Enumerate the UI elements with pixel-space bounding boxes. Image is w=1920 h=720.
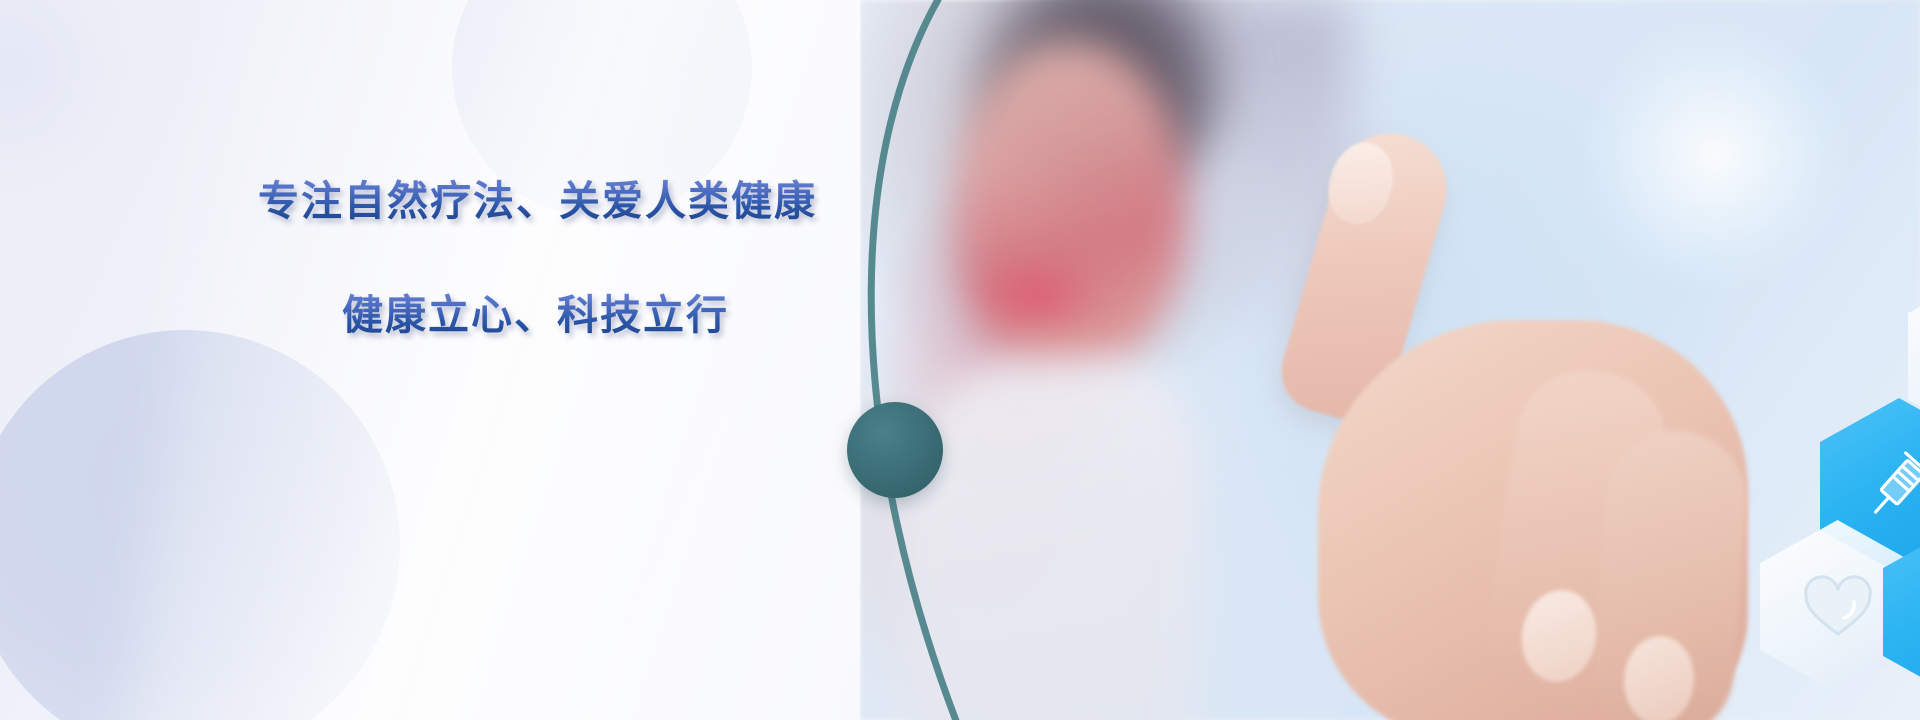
person-lab-coat [900,360,1200,720]
hexagon-icon-cluster [1765,0,1920,720]
doctor-photo [860,0,1920,720]
decorative-circle-bottom [0,330,400,720]
headline-line-2: 健康立心、科技立行 [342,289,1018,341]
headline-line-1: 专注自然疗法、关爱人类健康 [258,175,1018,227]
heart-icon [1800,572,1876,642]
decorative-glow-left [0,0,140,200]
health-hero-banner: 专注自然疗法、关爱人类健康 健康立心、科技立行 [0,0,1920,720]
syringe-icon [1860,447,1920,525]
teal-node-dot [847,402,943,498]
headline-copy: 专注自然疗法、关爱人类健康 健康立心、科技立行 [258,175,1018,341]
